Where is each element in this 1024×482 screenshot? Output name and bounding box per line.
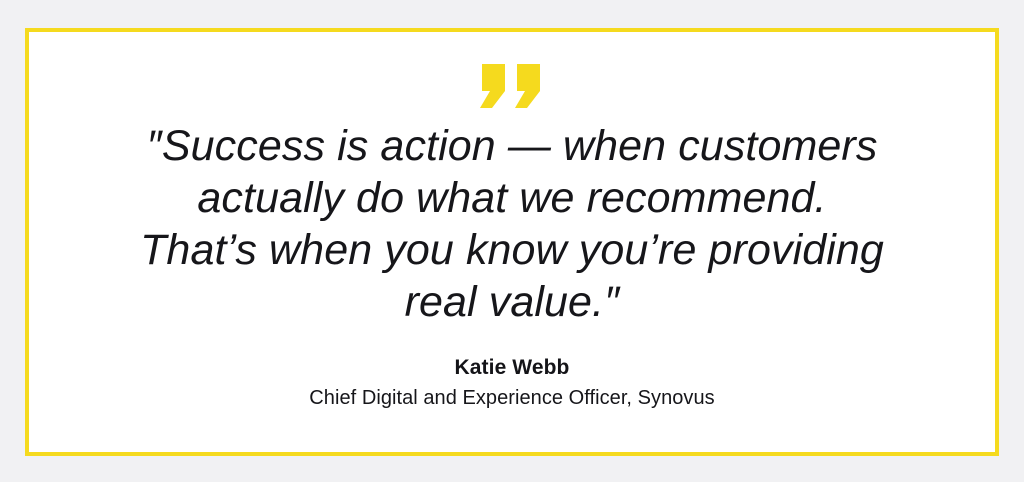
attribution-name: Katie Webb [29,354,995,382]
attribution-role: Chief Digital and Experience Officer, Sy… [29,384,995,412]
quote-text: ″Success is action — when customers actu… [29,120,995,328]
attribution: Katie Webb Chief Digital and Experience … [29,354,995,412]
testimonial-card: ″Success is action — when customers actu… [25,28,999,456]
closing-double-quote-icon [480,64,544,108]
slide-canvas: ″Success is action — when customers actu… [0,0,1024,482]
